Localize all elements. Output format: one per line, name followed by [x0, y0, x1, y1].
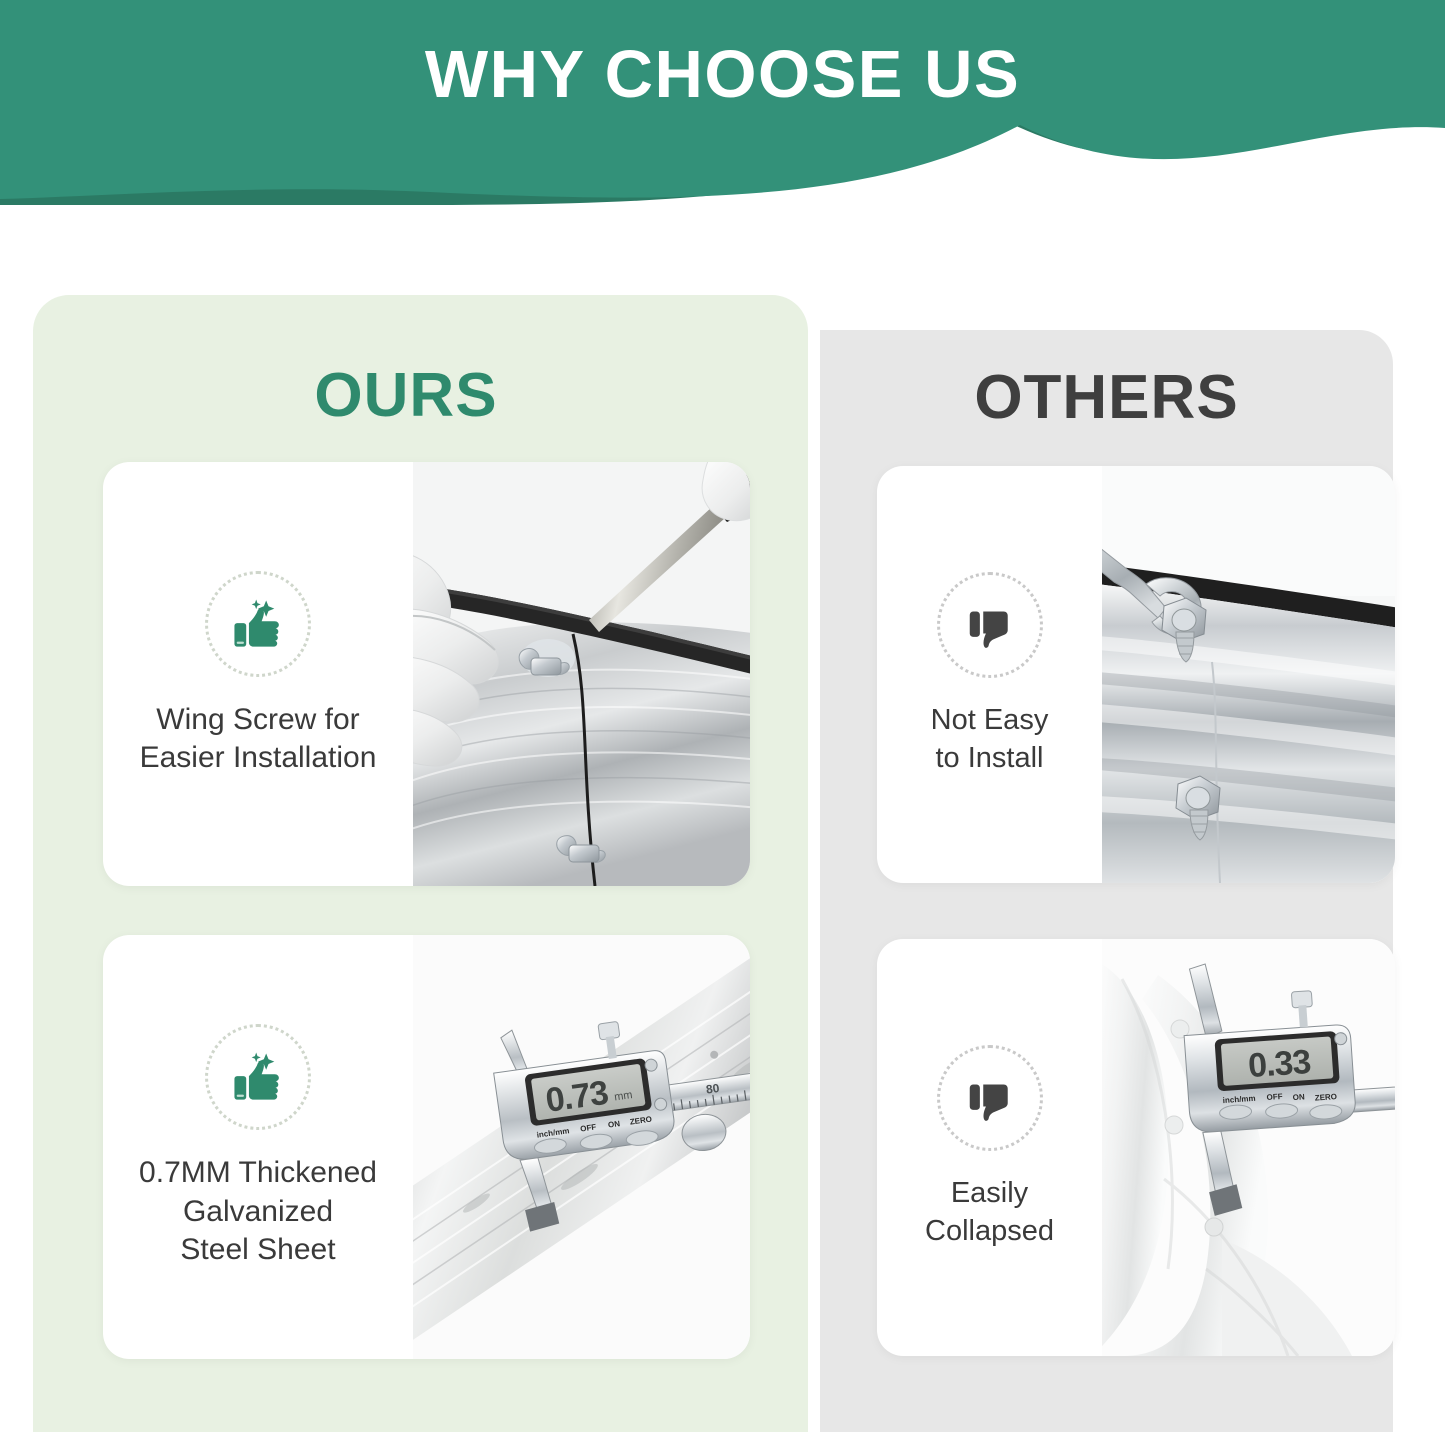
label-line: Collapsed — [925, 1213, 1054, 1250]
ruler-mark-80: 80 — [705, 1081, 720, 1097]
label-line: Wing Screw for — [140, 701, 377, 739]
label-line: Steel Sheet — [139, 1231, 377, 1269]
others-card-1-text-side: Not Easy to Install — [877, 466, 1102, 883]
ours-heading: OURS — [0, 360, 812, 431]
others-card-2-label: Easily Collapsed — [925, 1175, 1054, 1249]
label-line: 0.7MM Thickened — [139, 1154, 377, 1192]
caliper-measuring-steel-sheet-photo: 70 80 0.73 mm inch/mm OFF ON ZERO — [413, 935, 750, 1359]
caliper-unit: mm — [613, 1089, 633, 1103]
others-card-1-label: Not Easy to Install — [931, 702, 1049, 776]
thumbs-up-sparkle-icon — [205, 571, 311, 677]
thumbs-down-glyph — [963, 598, 1017, 652]
page-title: WHY CHOOSE US — [0, 40, 1445, 110]
ours-card-1-label: Wing Screw for Easier Installation — [140, 701, 377, 778]
wrench-hex-nut-photo — [1102, 466, 1395, 883]
caliper-button-label-on: ON — [607, 1119, 620, 1130]
thumbs-up-sparkle-glyph — [229, 1048, 287, 1106]
ours-card-2-text-side: 0.7MM Thickened Galvanized Steel Sheet — [103, 935, 413, 1359]
caliper-button-label-on: ON — [1292, 1092, 1305, 1102]
caliper-measuring-thin-sheet-photo: 0.33 inch/mm OFF ON ZERO — [1102, 939, 1395, 1356]
thumbs-down-icon — [937, 1045, 1043, 1151]
others-card-2-text-side: Easily Collapsed — [877, 939, 1102, 1356]
ours-card-1-text-side: Wing Screw for Easier Installation — [103, 462, 413, 886]
label-line: Easily — [925, 1175, 1054, 1212]
label-line: Galvanized — [139, 1193, 377, 1231]
label-line: to Install — [931, 740, 1049, 777]
others-feature-card-2: Easily Collapsed — [877, 939, 1395, 1356]
caliper-button-label-zero: ZERO — [1314, 1092, 1337, 1103]
others-feature-card-1: Not Easy to Install — [877, 466, 1395, 883]
thumbs-up-sparkle-icon — [205, 1024, 311, 1130]
caliper-reading: 0.33 — [1247, 1043, 1312, 1085]
ours-card-2-photo: 70 80 0.73 mm inch/mm OFF ON ZERO — [413, 935, 750, 1359]
others-card-1-photo — [1102, 466, 1395, 883]
others-card-2-photo: 0.33 inch/mm OFF ON ZERO — [1102, 939, 1395, 1356]
page-header: WHY CHOOSE US — [0, 0, 1445, 205]
caliper-button-label-off: OFF — [1266, 1092, 1283, 1102]
label-line: Not Easy — [931, 702, 1049, 739]
wing-screw-installation-photo — [413, 462, 750, 886]
ours-feature-card-1: Wing Screw for Easier Installation — [103, 462, 750, 886]
thumbs-down-icon — [937, 572, 1043, 678]
thumbs-up-sparkle-glyph — [229, 595, 287, 653]
ours-card-2-label: 0.7MM Thickened Galvanized Steel Sheet — [139, 1154, 377, 1269]
ours-feature-card-2: 0.7MM Thickened Galvanized Steel Sheet — [103, 935, 750, 1359]
others-heading: OTHERS — [820, 362, 1393, 433]
label-line: Easier Installation — [140, 739, 377, 777]
ours-card-1-photo — [413, 462, 750, 886]
thumbs-down-glyph — [963, 1071, 1017, 1125]
